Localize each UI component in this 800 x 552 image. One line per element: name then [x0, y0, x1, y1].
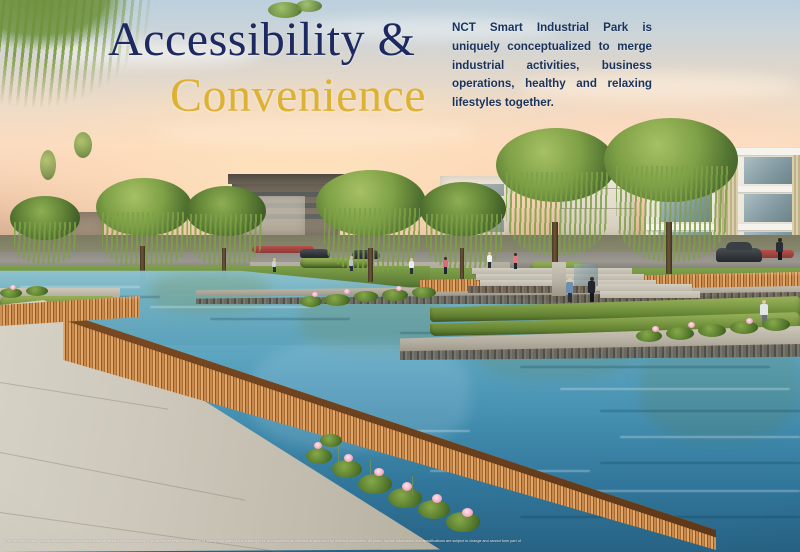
pedestrian: [272, 258, 277, 272]
lily-pad-cluster: [300, 286, 460, 322]
pedestrian: [776, 238, 784, 260]
pedestrian: [409, 258, 415, 274]
terrace-step: [596, 284, 692, 291]
parked-car-roof: [726, 242, 752, 250]
leaf-sprig: [74, 132, 92, 158]
pedestrian: [443, 257, 449, 274]
headline-line-1: Accessibility &: [108, 16, 415, 64]
lily-pad-cluster: [0, 284, 120, 310]
water-ripple: [600, 462, 800, 464]
parked-car: [716, 248, 762, 262]
lily-pad-cluster: [636, 318, 800, 358]
terrace-pier: [552, 262, 566, 296]
pedestrian: [513, 253, 519, 269]
water-ripple: [560, 388, 790, 390]
pedestrian: [566, 278, 574, 302]
pedestrian: [588, 277, 596, 302]
water-ripple: [600, 410, 800, 412]
water-reed: [370, 460, 371, 478]
water-reed: [412, 476, 413, 494]
brochure-page: Accessibility & Convenience NCT Smart In…: [0, 0, 800, 552]
pedestrian: [487, 252, 493, 268]
legal-disclaimer: All art renderings and photographs conta…: [3, 539, 798, 543]
pedestrian: [349, 256, 354, 271]
headline-line-2: Convenience: [170, 72, 426, 120]
lily-pad-cluster: [296, 430, 516, 540]
body-paragraph: NCT Smart Industrial Park is uniquely co…: [452, 19, 652, 113]
glass-facade: [744, 157, 792, 184]
leaf-sprig: [40, 150, 56, 180]
glass-facade: [744, 194, 792, 222]
water-reed: [338, 446, 339, 462]
water-ripple: [520, 366, 770, 368]
water-ripple: [150, 306, 310, 308]
terrace-step: [600, 291, 700, 298]
leaf-sprig: [296, 0, 322, 12]
water-ripple: [620, 436, 800, 438]
